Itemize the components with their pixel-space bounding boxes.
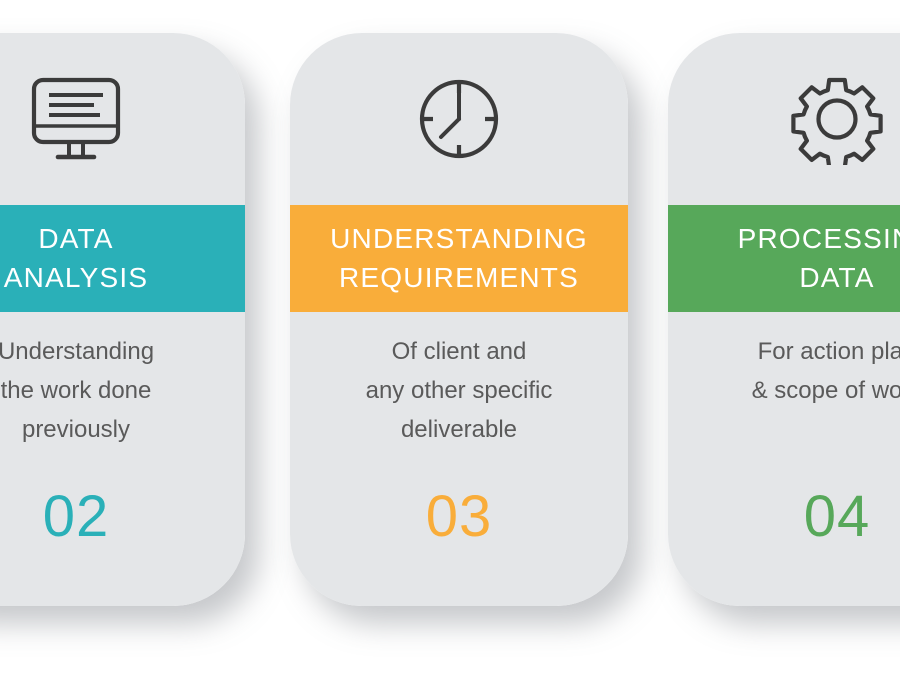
card-title: UNDERSTANDING REQUIREMENTS bbox=[324, 220, 594, 297]
card-body: Understanding the work done previously bbox=[0, 333, 245, 450]
card-understanding-requirements[interactable]: UNDERSTANDING REQUIREMENTS Of client and… bbox=[290, 33, 628, 606]
card-processing-data[interactable]: PROCESSING DATA For action plan & scope … bbox=[668, 33, 900, 606]
icon-zone-processing-data bbox=[668, 33, 900, 205]
title-band-understanding-requirements: UNDERSTANDING REQUIREMENTS bbox=[290, 205, 628, 312]
number-zone-data-analysis: 02 bbox=[0, 488, 245, 546]
card-title: PROCESSING DATA bbox=[732, 220, 900, 297]
card-data-analysis[interactable]: DATA ANALYSIS Understanding the work don… bbox=[0, 33, 245, 606]
card-number: 02 bbox=[0, 488, 245, 546]
icon-zone-data-analysis bbox=[0, 33, 245, 205]
number-zone-processing-data: 04 bbox=[668, 488, 900, 546]
title-band-processing-data: PROCESSING DATA bbox=[668, 205, 900, 312]
monitor-icon bbox=[28, 74, 124, 164]
title-band-data-analysis: DATA ANALYSIS bbox=[0, 205, 245, 312]
card-body: For action plan & scope of work bbox=[668, 333, 900, 411]
card-title: DATA ANALYSIS bbox=[0, 220, 154, 297]
card-number: 03 bbox=[290, 488, 628, 546]
number-zone-understanding-requirements: 03 bbox=[290, 488, 628, 546]
icon-zone-understanding-requirements bbox=[290, 33, 628, 205]
infographic-canvas: DATA ANALYSIS Understanding the work don… bbox=[0, 0, 900, 700]
card-body: Of client and any other specific deliver… bbox=[290, 333, 628, 450]
body-zone-understanding-requirements: Of client and any other specific deliver… bbox=[290, 333, 628, 450]
clock-icon bbox=[413, 73, 505, 165]
card-number: 04 bbox=[668, 488, 900, 546]
gear-icon bbox=[791, 73, 883, 165]
body-zone-data-analysis: Understanding the work done previously bbox=[0, 333, 245, 450]
body-zone-processing-data: For action plan & scope of work bbox=[668, 333, 900, 411]
